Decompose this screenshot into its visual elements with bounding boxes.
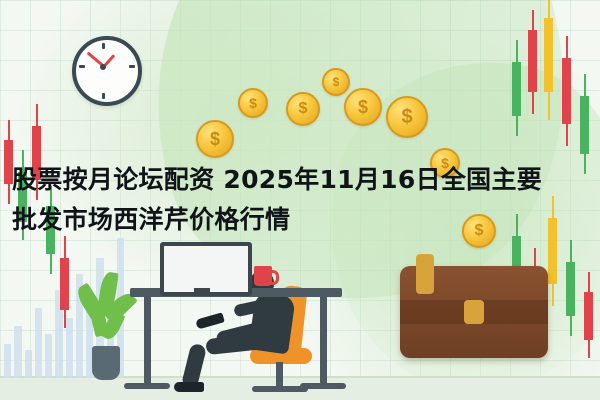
headline-text: 股票按月论坛配资 2025年11月16日全国主要 批发市场西洋芹价格行情 xyxy=(12,160,588,240)
person-shoe xyxy=(174,382,204,392)
candlestick-body xyxy=(544,18,553,92)
headline-line-2: 批发市场西洋芹价格行情 xyxy=(12,200,588,240)
coin-icon: $ xyxy=(322,68,350,96)
candlestick-body xyxy=(512,62,521,116)
coin-icon: $ xyxy=(386,96,428,138)
desk-leg-right xyxy=(320,297,327,385)
clock-tick-3 xyxy=(129,65,135,68)
coin-icon: $ xyxy=(344,88,382,126)
article-thumbnail-image: $$$$$$$$ 股票按 xyxy=(0,0,600,400)
candlestick-body xyxy=(562,58,571,124)
desk-leg-left xyxy=(144,297,151,385)
person-shoe-crossed xyxy=(195,312,225,329)
monitor-stand xyxy=(194,288,210,292)
coin-icon: $ xyxy=(238,88,268,118)
wallet-flap xyxy=(416,254,434,294)
wallet-icon xyxy=(400,266,548,358)
candlestick-body xyxy=(60,258,69,310)
candlestick-body xyxy=(580,96,589,154)
coin-icon: $ xyxy=(286,92,320,126)
coin-icon: $ xyxy=(196,120,234,158)
desk-foot-left xyxy=(124,383,170,389)
potted-plant xyxy=(78,268,134,380)
clock-tick-9 xyxy=(79,65,85,68)
candlestick-body xyxy=(584,292,593,340)
wall-clock-icon xyxy=(72,36,142,106)
office-chair-pole xyxy=(276,362,283,388)
clock-tick-6 xyxy=(102,93,105,99)
plant-pot xyxy=(92,346,120,380)
wallet-clasp xyxy=(464,300,484,324)
headline-line-1: 股票按月论坛配资 2025年11月16日全国主要 xyxy=(12,160,588,200)
desk-foot-right xyxy=(300,383,346,389)
clock-tick-12 xyxy=(102,43,105,49)
desk-and-person-illustration xyxy=(130,240,350,400)
candlestick-body xyxy=(528,30,537,92)
candlestick-body xyxy=(566,262,575,316)
clock-center-pin xyxy=(100,64,106,70)
coffee-mug-icon xyxy=(254,266,272,286)
